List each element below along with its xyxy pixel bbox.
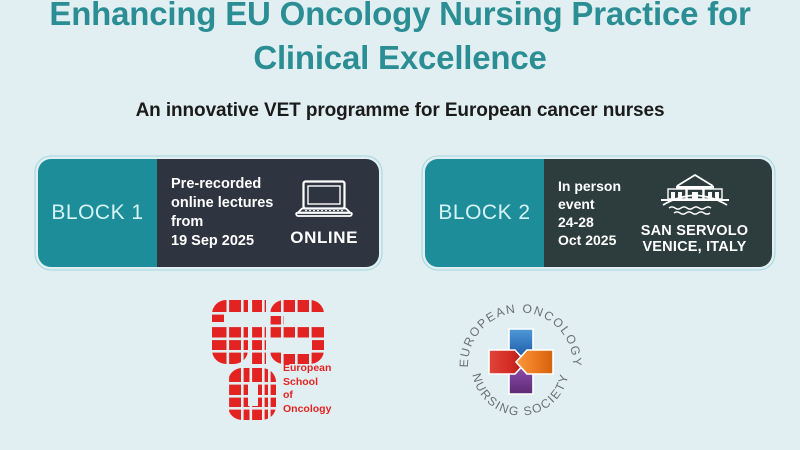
european-school-of-oncology-logo: European School of Oncology (208, 300, 368, 425)
rialto-bridge-icon (647, 172, 743, 221)
block-1-label: BLOCK 1 (38, 159, 157, 267)
block-card-1[interactable]: BLOCK 1 Pre-recorded online lectures fro… (38, 159, 379, 267)
eso-wordmark: European School of Oncology (283, 362, 331, 416)
poster-canvas: Enhancing EU Oncology Nursing Practice f… (0, 0, 800, 450)
block-1-venue-label: ONLINE (290, 228, 358, 248)
block-card-2[interactable]: BLOCK 2 In person event 24-28 Oct 2025 (425, 159, 772, 267)
block-1-venue: ONLINE (279, 179, 369, 248)
page-subtitle: An innovative VET programme for European… (0, 100, 800, 122)
block-2-description: In person event 24-28 Oct 2025 (558, 177, 621, 249)
laptop-icon (295, 179, 353, 226)
eons-mark-icon: EUROPEAN ONCOLOGY NURSING SOCIETY (452, 293, 589, 430)
block-1-details: Pre-recorded online lectures from 19 Sep… (157, 159, 379, 267)
block-2-venue-label: SAN SERVOLO VENICE, ITALY (627, 223, 762, 255)
european-oncology-nursing-society-logo: EUROPEAN ONCOLOGY NURSING SOCIETY (452, 293, 589, 430)
block-2-details: In person event 24-28 Oct 2025 (544, 159, 772, 267)
block-1-description: Pre-recorded online lectures from 19 Sep… (171, 175, 273, 251)
block-2-label: BLOCK 2 (425, 159, 544, 267)
block-2-venue: SAN SERVOLO VENICE, ITALY (627, 172, 762, 255)
page-title: Enhancing EU Oncology Nursing Practice f… (0, 0, 800, 80)
